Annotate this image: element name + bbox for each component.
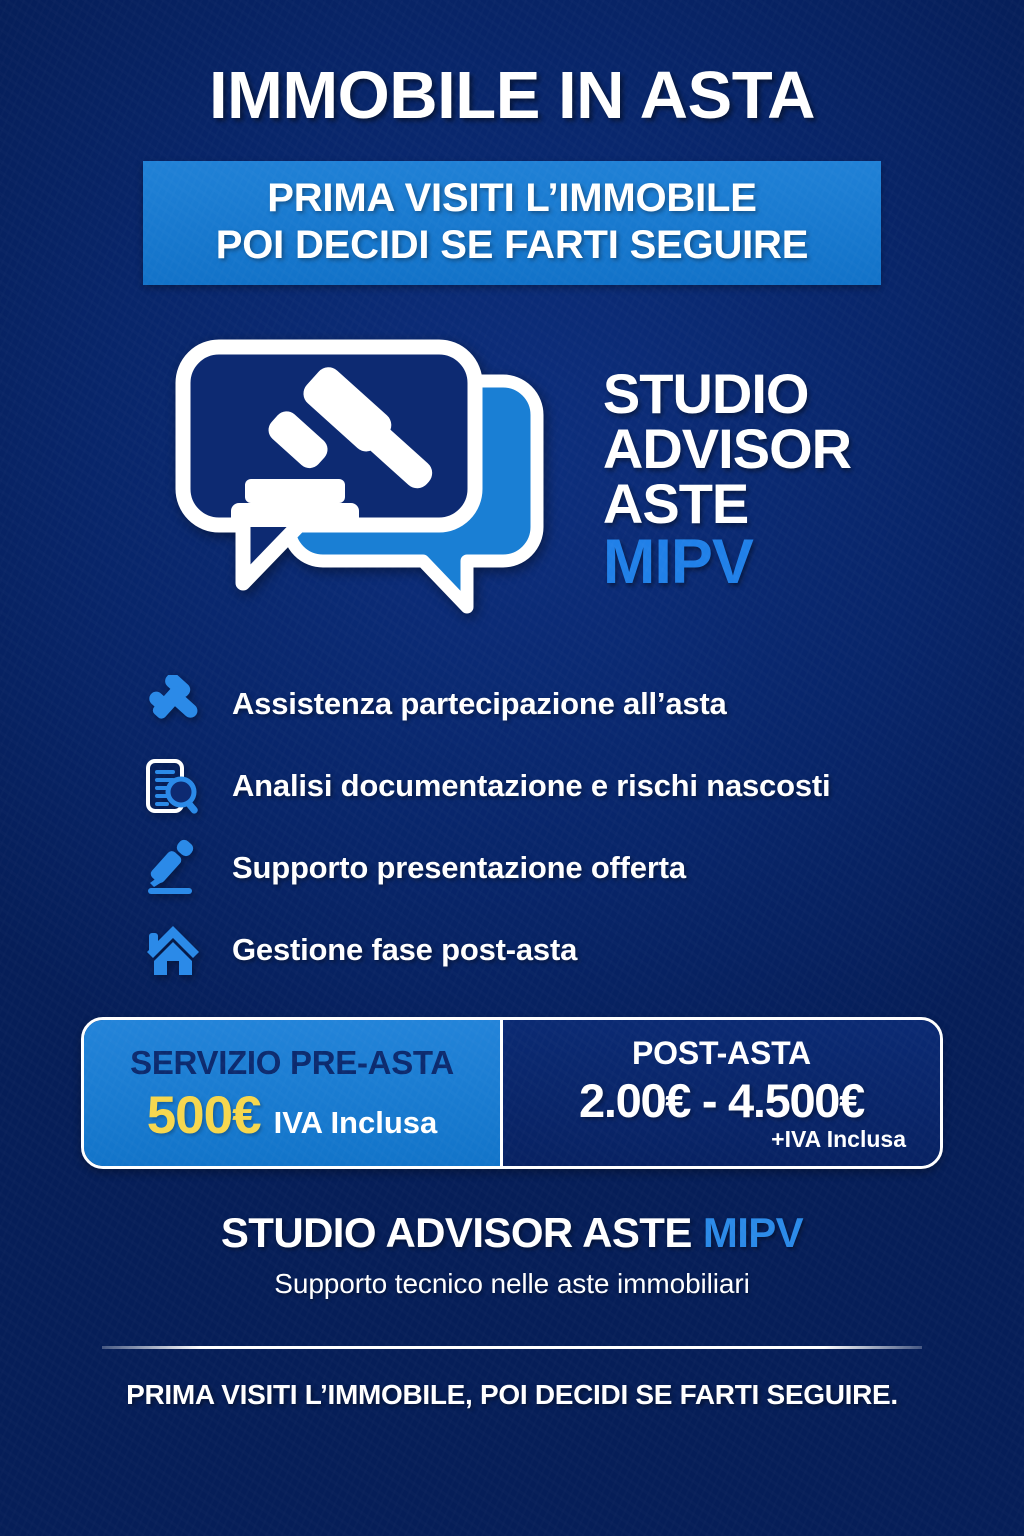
brand-word-2: ADVISOR xyxy=(603,422,851,477)
pricing-pre-note: IVA Inclusa xyxy=(274,1105,438,1141)
feature-list: Assistenza partecipazione all’asta xyxy=(112,673,912,981)
list-item-label: Analisi documentazione e rischi nascosti xyxy=(232,768,830,804)
speech-bubbles-gavel-logo xyxy=(173,331,573,631)
footer-tagline: PRIMA VISITI L’IMMOBILE, POI DECIDI SE F… xyxy=(126,1379,898,1411)
pricing-post-asta: POST-ASTA 2.00€ - 4.500€ +IVA Inclusa xyxy=(500,1020,940,1166)
banner-line-2: POI DECIDI SE FARTI SEGUIRE xyxy=(153,222,871,269)
pricing-pre-amount: 500€ xyxy=(147,1085,261,1146)
footer-subtitle: Supporto tecnico nelle aste immobiliari xyxy=(274,1268,749,1300)
footer-brand: STUDIO ADVISOR ASTE MIPV xyxy=(221,1209,803,1257)
brand-logo-row: STUDIO ADVISOR ASTE MIPV xyxy=(0,331,1024,631)
list-item: Gestione fase post-asta xyxy=(112,919,912,981)
list-item-label: Supporto presentazione offerta xyxy=(232,850,686,886)
pricing-pre-asta: SERVIZIO PRE-ASTA 500€ IVA Inclusa xyxy=(84,1020,500,1166)
pricing-post-amount: 2.00€ - 4.500€ xyxy=(579,1073,864,1128)
list-item: Analisi documentazione e rischi nascosti xyxy=(112,755,912,817)
list-item: Supporto presentazione offerta xyxy=(112,837,912,899)
page-title: IMMOBILE IN ASTA xyxy=(209,62,815,129)
gavel-icon xyxy=(142,673,204,735)
poster-root: IMMOBILE IN ASTA PRIMA VISITI L’IMMOBILE… xyxy=(0,0,1024,1536)
list-item-label: Assistenza partecipazione all’asta xyxy=(232,686,727,722)
list-item: Assistenza partecipazione all’asta xyxy=(112,673,912,735)
footer-brand-main: STUDIO ADVISOR ASTE xyxy=(221,1209,703,1256)
pen-signature-icon xyxy=(142,837,204,899)
pricing-pre-title: SERVIZIO PRE-ASTA xyxy=(130,1044,454,1082)
banner-line-1: PRIMA VISITI L’IMMOBILE xyxy=(153,175,871,222)
pricing-post-note: +IVA Inclusa xyxy=(771,1126,906,1153)
footer-divider xyxy=(102,1346,922,1349)
home-icon xyxy=(142,919,204,981)
pricing-box: SERVIZIO PRE-ASTA 500€ IVA Inclusa POST-… xyxy=(81,1017,943,1169)
brand-word-4: MIPV xyxy=(603,532,851,594)
brand-word-1: STUDIO xyxy=(603,367,851,422)
highlight-banner: PRIMA VISITI L’IMMOBILE POI DECIDI SE FA… xyxy=(143,161,881,285)
pricing-post-title: POST-ASTA xyxy=(632,1035,811,1072)
footer-brand-accent: MIPV xyxy=(703,1209,803,1256)
brand-wordmark: STUDIO ADVISOR ASTE MIPV xyxy=(603,367,851,593)
document-search-icon xyxy=(142,755,204,817)
brand-word-3: ASTE xyxy=(603,477,851,532)
list-item-label: Gestione fase post-asta xyxy=(232,932,577,968)
